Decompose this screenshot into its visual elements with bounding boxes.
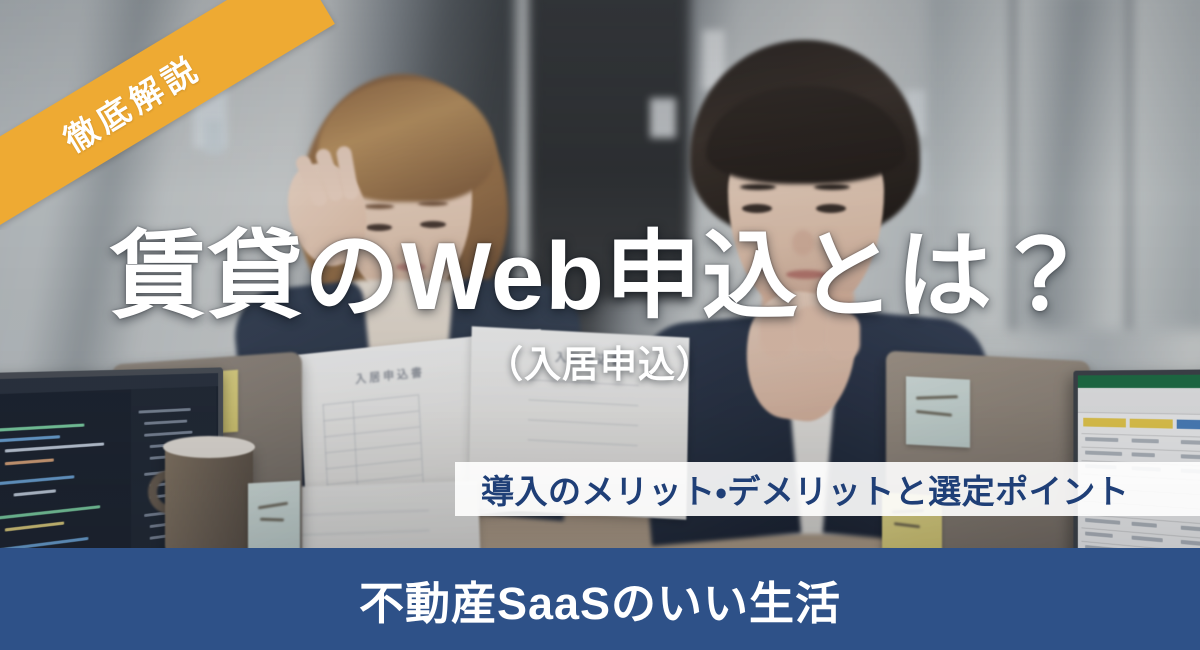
- page-title-parenthetical: （入居申込）: [0, 334, 1200, 388]
- page-title: 賃貸のWeb申込とは？: [0, 228, 1200, 326]
- brand-footer-bar: 不動産SaaSのいい生活: [0, 548, 1200, 650]
- subtitle-band: 導入のメリット・デメリットと選定ポイント: [455, 462, 1200, 516]
- article-hero-banner: 入居申込書 入居申込書: [0, 0, 1200, 650]
- brand-name: 不動産SaaSのいい生活: [359, 567, 841, 632]
- subtitle-band-label: 導入のメリット・デメリットと選定ポイント: [455, 465, 1129, 513]
